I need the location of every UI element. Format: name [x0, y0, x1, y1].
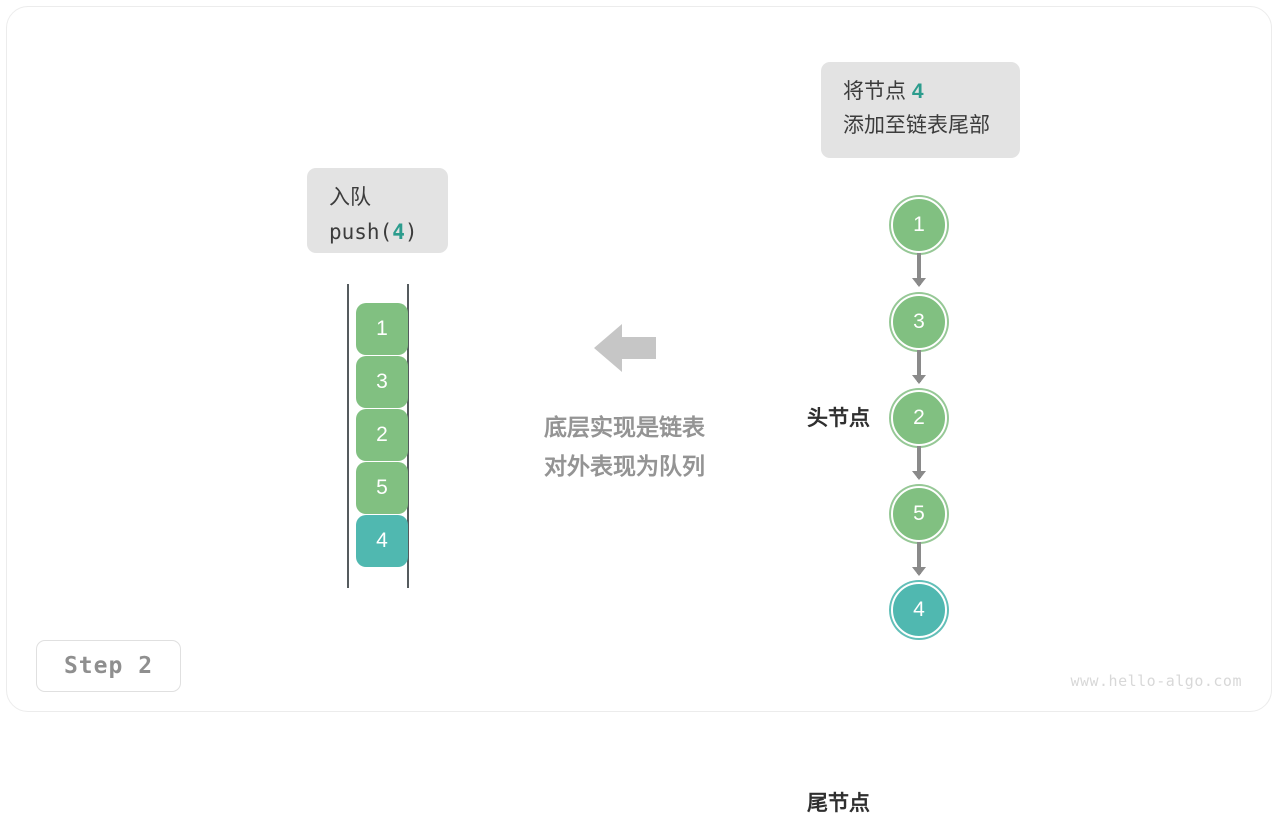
list-node-highlighted: 4	[891, 582, 947, 638]
append-label-line2: 添加至链表尾部	[843, 109, 1000, 143]
queue-item: 1	[356, 303, 408, 355]
push-code-value: 4	[392, 220, 405, 244]
push-code-suffix: )	[405, 220, 418, 244]
diagram-canvas: 入队 push(4) 将节点 4 添加至链表尾部 1 3 2 5 4 底层实现是…	[0, 0, 1280, 720]
push-annotation-label: 入队 push(4)	[307, 168, 448, 253]
caption-line2: 对外表现为队列	[497, 447, 752, 486]
append-annotation-label: 将节点 4 添加至链表尾部	[821, 62, 1020, 158]
queue-item: 2	[356, 409, 408, 461]
watermark: www.hello-algo.com	[1070, 672, 1242, 690]
list-node: 5	[891, 486, 947, 542]
queue-item-highlighted: 4	[356, 515, 408, 567]
queue-rail-left	[347, 284, 349, 588]
linked-list: 1 3 2 5 4 头节点 尾节点	[770, 190, 1000, 650]
left-arrow-icon	[594, 320, 656, 376]
append-label-line1: 将节点 4	[843, 75, 1000, 109]
caption-line1: 底层实现是链表	[497, 408, 752, 447]
tail-node-label: 尾节点	[770, 787, 870, 817]
list-node: 2	[891, 390, 947, 446]
push-label-code: push(4)	[329, 220, 418, 244]
list-node: 1	[891, 197, 947, 253]
queue-item: 3	[356, 356, 408, 408]
append-line1-prefix: 将节点	[843, 80, 912, 103]
append-line1-value: 4	[912, 80, 924, 103]
step-badge: Step 2	[36, 640, 181, 692]
push-label-line1: 入队	[329, 186, 371, 209]
push-code-prefix: push(	[329, 220, 392, 244]
list-node: 3	[891, 294, 947, 350]
implementation-caption: 底层实现是链表 对外表现为队列	[497, 408, 752, 486]
queue-item: 5	[356, 462, 408, 514]
head-node-label: 头节点	[770, 402, 870, 432]
queue-column: 1 3 2 5 4	[340, 280, 416, 592]
